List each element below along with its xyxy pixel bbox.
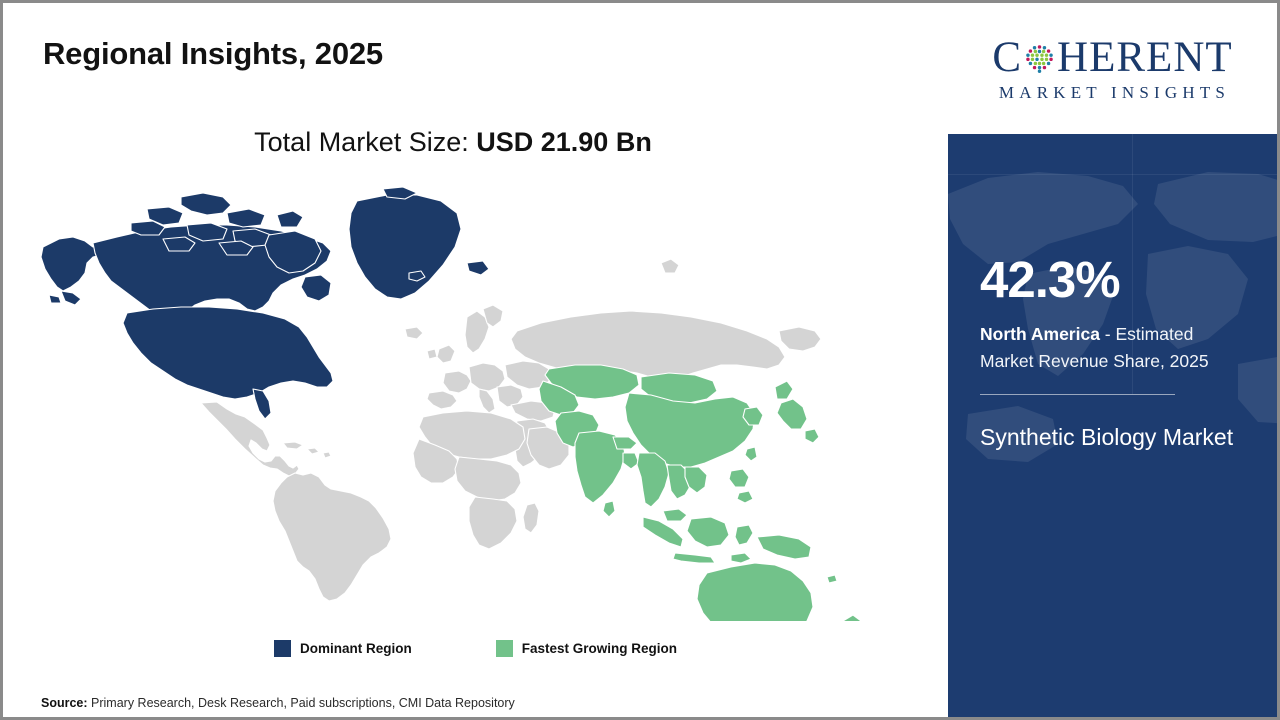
source-footer: Source: Primary Research, Desk Research,… bbox=[41, 696, 515, 710]
logo-tagline: MARKET INSIGHTS bbox=[995, 83, 1230, 103]
stat-percentage: 42.3% bbox=[980, 254, 1245, 305]
stat-panel: 42.3% North America - Estimated Market R… bbox=[948, 134, 1277, 717]
market-name: Synthetic Biology Market bbox=[980, 421, 1245, 454]
world-map[interactable] bbox=[31, 181, 911, 621]
market-size-label: Total Market Size: bbox=[254, 127, 469, 157]
stat-divider-rule bbox=[980, 394, 1175, 395]
brand-logo[interactable]: C bbox=[948, 3, 1277, 134]
source-label: Source: bbox=[41, 696, 88, 710]
map-legend: Dominant Region Fastest Growing Region bbox=[3, 640, 948, 657]
main-content-pane: Regional Insights, 2025 Total Market Siz… bbox=[3, 3, 948, 717]
logo-wordmark: C bbox=[992, 35, 1232, 81]
stat-description: North America - Estimated Market Revenue… bbox=[980, 321, 1245, 374]
map-region-fastest-growing-asia-pacific bbox=[539, 365, 861, 621]
sidebar-pane: C bbox=[948, 3, 1277, 717]
stat-content: 42.3% North America - Estimated Market R… bbox=[948, 254, 1277, 454]
legend-label-dominant: Dominant Region bbox=[300, 641, 412, 656]
page-title: Regional Insights, 2025 bbox=[43, 36, 383, 72]
regional-insights-infographic: Regional Insights, 2025 Total Market Siz… bbox=[0, 0, 1280, 720]
source-text: Primary Research, Desk Research, Paid su… bbox=[88, 696, 515, 710]
legend-swatch-fastest-growing-icon bbox=[496, 640, 513, 657]
dotted-globe-icon bbox=[1023, 42, 1056, 75]
legend-item-dominant-region[interactable]: Dominant Region bbox=[274, 640, 412, 657]
total-market-size: Total Market Size: USD 21.90 Bn bbox=[3, 127, 903, 158]
legend-label-fastest-growing: Fastest Growing Region bbox=[522, 641, 677, 656]
logo-letters-herent: HERENT bbox=[1057, 36, 1233, 79]
legend-item-fastest-growing-region[interactable]: Fastest Growing Region bbox=[496, 640, 677, 657]
market-size-value: USD 21.90 Bn bbox=[476, 127, 652, 157]
stat-region-name: North America bbox=[980, 324, 1100, 344]
map-region-dominant-north-america bbox=[41, 187, 489, 419]
world-map-svg bbox=[31, 181, 911, 621]
logo-letter-c: C bbox=[992, 36, 1022, 79]
legend-swatch-dominant-icon bbox=[274, 640, 291, 657]
